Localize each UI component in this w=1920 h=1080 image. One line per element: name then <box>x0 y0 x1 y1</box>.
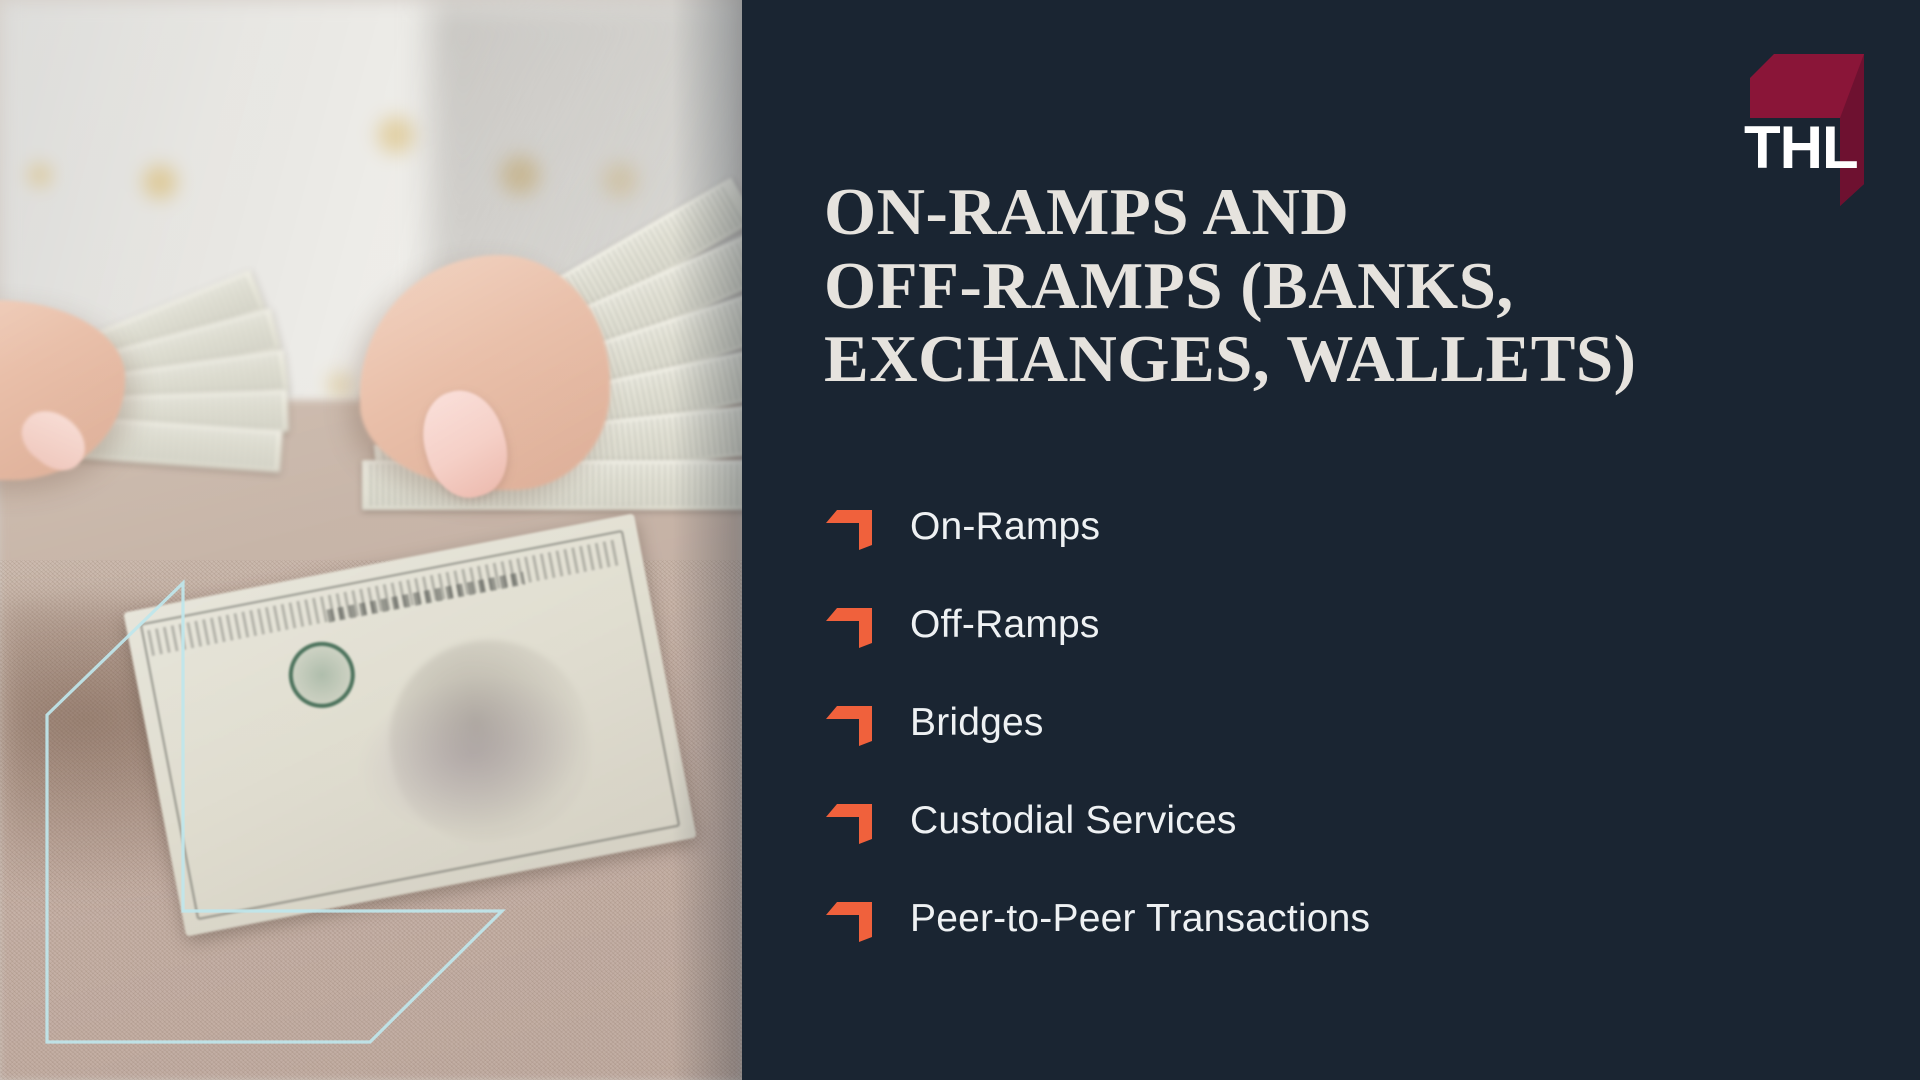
thl-outline-watermark <box>0 0 742 1080</box>
bullet-label: Bridges <box>910 701 1044 745</box>
bullet-item-on-ramps[interactable]: On-Ramps <box>826 478 1846 576</box>
bullet-item-bridges[interactable]: Bridges <box>826 674 1846 772</box>
slide-title-line-3: EXCHANGES, WALLETS) <box>824 322 1637 396</box>
flag-arrow-icon <box>826 896 872 942</box>
slide-title-line-1: ON-RAMPS AND <box>824 175 1349 249</box>
slide-title-line-2: OFF-RAMPS (BANKS, <box>824 249 1514 323</box>
bullet-label: Off-Ramps <box>910 603 1100 647</box>
flag-arrow-icon <box>826 602 872 648</box>
bullet-list: On-Ramps Off-Ramps Bridges Custodial Ser… <box>826 478 1846 968</box>
content-panel: THL ON-RAMPS AND OFF-RAMPS (BANKS, EXCHA… <box>742 0 1920 1080</box>
bullet-label: Custodial Services <box>910 799 1237 843</box>
bullet-item-peer-to-peer-transactions[interactable]: Peer-to-Peer Transactions <box>826 870 1846 968</box>
bullet-item-off-ramps[interactable]: Off-Ramps <box>826 576 1846 674</box>
flag-arrow-icon <box>826 798 872 844</box>
flag-arrow-icon <box>826 700 872 746</box>
bullet-item-custodial-services[interactable]: Custodial Services <box>826 772 1846 870</box>
flag-arrow-icon <box>826 504 872 550</box>
bullet-label: Peer-to-Peer Transactions <box>910 897 1370 941</box>
slide-title: ON-RAMPS AND OFF-RAMPS (BANKS, EXCHANGES… <box>824 176 1824 397</box>
photo-panel <box>0 0 742 1080</box>
thl-logo-wordmark: THL <box>1744 118 1858 178</box>
bullet-label: On-Ramps <box>910 505 1100 549</box>
slide-root: THL ON-RAMPS AND OFF-RAMPS (BANKS, EXCHA… <box>0 0 1920 1080</box>
